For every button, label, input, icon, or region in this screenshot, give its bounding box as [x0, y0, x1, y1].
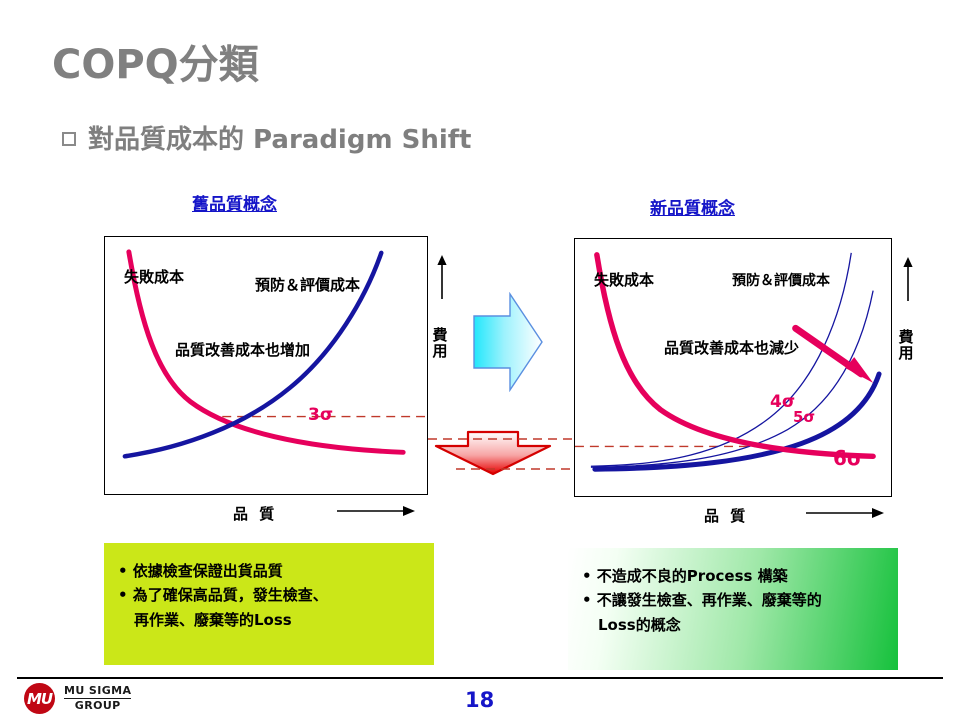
company-logo: MU MU SIGMA GROUP: [24, 683, 131, 714]
x-axis-arrow-old: [337, 503, 415, 523]
transition-arrow-blue: [472, 292, 544, 396]
bullet-square-icon: [62, 132, 76, 146]
x-axis-label-old: 品 質: [233, 503, 277, 524]
footer-divider: [17, 677, 943, 679]
y-axis-label-char-1: 費用: [431, 328, 449, 360]
label-failure-cost-old: 失敗成本: [124, 266, 184, 287]
label-failure-cost-new: 失敗成本: [594, 269, 654, 290]
callout-old-concept: • 依據檢查保證出貨品質 • 為了確保高品質，發生檢查、 再作業、廢棄等的Los…: [104, 543, 434, 665]
callout-right-line-3: Loss的概念: [582, 613, 898, 637]
label-sigma-6: 6σ: [833, 446, 863, 470]
page-title: COPQ分類: [52, 32, 259, 90]
y-axis-label-new: 費用: [897, 330, 919, 362]
caption-new-concept: 新品質概念: [650, 194, 735, 219]
callout-left-line-1: • 依據檢查保證出貨品質: [118, 559, 434, 583]
logo-text: MU SIGMA GROUP: [64, 685, 131, 711]
logo-mark-icon: MU: [24, 683, 55, 714]
callout-new-concept: • 不造成不良的Process 構築 • 不讓發生檢查、再作業、廢棄等的 Los…: [568, 548, 898, 670]
logo-line-2: GROUP: [64, 699, 131, 712]
label-note-new: 品質改善成本也減少: [664, 337, 799, 358]
x-axis-arrow-new: [806, 505, 884, 525]
page-number: 18: [465, 688, 494, 712]
label-sigma-3: 3σ: [308, 405, 333, 425]
callout-right-line-2: • 不讓發生檢查、再作業、廢棄等的: [582, 588, 898, 612]
callout-left-line-3: 再作業、廢棄等的Loss: [118, 608, 434, 632]
label-sigma-4: 4σ: [770, 392, 795, 412]
callout-left-line-2: • 為了確保高品質，發生檢查、: [118, 583, 434, 607]
y-axis-arrow-new: [901, 257, 915, 307]
callout-right-line-1: • 不造成不良的Process 構築: [582, 564, 898, 588]
label-note-old: 品質改善成本也增加: [175, 339, 310, 360]
y-axis-label-new-chars: 費用: [897, 330, 915, 362]
label-sigma-5: 5σ: [793, 408, 815, 426]
x-axis-label-new: 品 質: [704, 505, 748, 526]
subtitle: 對品質成本的 Paradigm Shift: [62, 119, 472, 156]
crossover-connector-dashes: [428, 433, 574, 473]
caption-old-concept: 舊品質概念: [192, 190, 277, 215]
improvement-arrow-pink: [796, 328, 874, 383]
y-axis-arrow-old: [435, 255, 449, 305]
logo-line-1: MU SIGMA: [64, 685, 131, 699]
label-prevention-cost-old: 預防＆評價成本: [255, 274, 360, 295]
slide-canvas: COPQ分類 對品質成本的 Paradigm Shift 舊品質概念 新品質概念…: [0, 0, 960, 720]
subtitle-text: 對品質成本的 Paradigm Shift: [88, 125, 472, 155]
label-prevention-cost-new: 預防＆評價成本: [732, 270, 830, 290]
y-axis-label-old: 費用: [431, 328, 453, 360]
